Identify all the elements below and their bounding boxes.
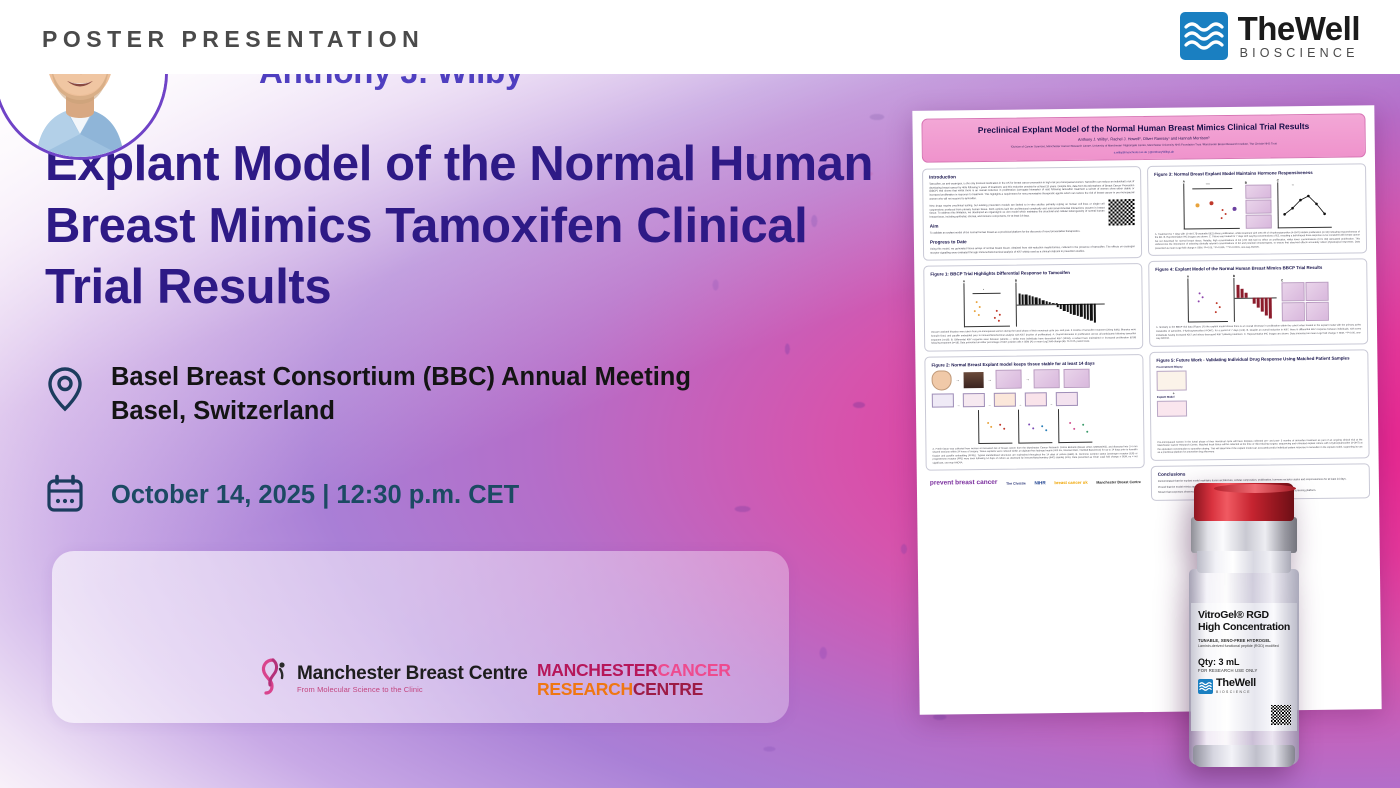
figure-5-caption: Pre-menopausal women in the luteal phase…	[1157, 438, 1362, 455]
figure-3-panel-a: A ****	[1183, 179, 1240, 230]
vial-neck	[1197, 551, 1291, 573]
event-meta: Basel Breast Consortium (BBC) Annual Mee…	[45, 361, 691, 519]
figure-2-label: Figure 2: Normal Breast Explant model ke…	[931, 360, 1136, 368]
vial-descriptor: TUNABLE, XENO-FREE HYDROGEL	[1198, 638, 1290, 643]
scientific-poster[interactable]: Preclinical Explant Model of the Normal …	[912, 105, 1381, 715]
vial-product-grade: High Concentration	[1198, 622, 1290, 634]
poster-figure-5: Figure 5: Future Work - Validating Indiv…	[1149, 349, 1369, 461]
footer-logo-prevent-breast-cancer: prevent breast cancer	[930, 480, 998, 487]
event-location: Basel Breast Consortium (BBC) Annual Mee…	[111, 361, 691, 428]
poster-figure-2: Figure 2: Normal Breast Explant model ke…	[924, 354, 1144, 471]
vial-quantity: Qty: 3 mL	[1198, 657, 1290, 667]
figure-4-plots: A B	[1155, 273, 1361, 324]
figure-5-workflow: Pre-treatment Biopsy + Explant Model	[1156, 363, 1362, 437]
mcrc-word-manchester: MANCHESTER	[537, 660, 657, 680]
poster-section-intro: Introduction Tamoxifen, an anti-oestroge…	[922, 166, 1142, 261]
poster-column-left: Introduction Tamoxifen, an anti-oestroge…	[922, 166, 1145, 504]
intro-heading: Introduction	[929, 172, 1134, 180]
vial-base	[1193, 745, 1295, 767]
conclusions-heading: Conclusions	[1158, 469, 1363, 477]
figure-1-panel-a: A	[963, 279, 1010, 328]
qr-code-icon	[1108, 199, 1134, 225]
footer-logo-mbc: Manchester Breast Centre	[1096, 480, 1141, 485]
progress-text: Using this model, we generated tissue ar…	[930, 245, 1135, 255]
mbc-wordmark: Manchester Breast Centre From Molecular …	[297, 664, 528, 694]
figure-3-caption: A. Treatment for 7 days with 10 nM 17β-o…	[1155, 230, 1360, 250]
figure-1-caption: Vacuum assisted biopsies were taken from…	[931, 329, 1136, 346]
mcrc-word-cancer: CANCER	[657, 660, 730, 680]
figure-2-culture-row: → → → →	[932, 391, 1137, 408]
mcrc-word-research: RESEARCH	[537, 679, 633, 699]
figure-2-caption: A. Fresh tissue was collected from women…	[932, 445, 1137, 465]
map-pin-icon	[45, 361, 89, 418]
vial-sub-descriptor: Laminin-derived functional peptide (RGD)…	[1198, 644, 1290, 648]
brand-subtitle: BIOSCIENCE	[1240, 47, 1360, 60]
page-title: Explant Model of the Normal Human Breast…	[45, 134, 905, 319]
figure-3-label: Figure 3: Normal Breast Explant Model Ma…	[1154, 169, 1359, 177]
vial-label: VitroGel® RGD High Concentration TUNABLE…	[1191, 603, 1297, 731]
figure-4-panel-c: C	[1281, 278, 1330, 322]
manchester-cancer-research-centre-logo: MANCHESTERCANCER RESEARCHCENTRE	[537, 661, 731, 699]
poster-header: Preclinical Explant Model of the Normal …	[921, 113, 1366, 162]
figure-3-panel-c: C **	[1277, 177, 1332, 228]
aim-heading: Aim	[930, 221, 1135, 229]
mcrc-line-2: RESEARCHCENTRE	[537, 680, 731, 699]
mbc-tagline: From Molecular Science to the Clinic	[297, 686, 528, 694]
wave-logo-icon	[1180, 12, 1228, 60]
mbc-name: Manchester Breast Centre	[297, 664, 528, 684]
footer-logo-christie: The Christie	[1006, 481, 1026, 485]
brand-wordmark: TheWell BIOSCIENCE	[1238, 12, 1360, 60]
event-location-line1: Basel Breast Consortium (BBC) Annual Mee…	[111, 361, 691, 395]
figure-3-plots: A ****	[1154, 177, 1360, 230]
footer-logo-nihr: NIHR	[1034, 480, 1045, 485]
intro-text: Tamoxifen, an anti-oestrogen, is the onl…	[929, 180, 1134, 202]
footer-logo-breast-cancer-uk: breast cancer uk	[1054, 480, 1087, 485]
figure-4-panel-a: A	[1187, 274, 1228, 322]
poster-figure-4: Figure 4: Explant Model of the Normal Hu…	[1148, 259, 1368, 347]
event-location-row: Basel Breast Consortium (BBC) Annual Mee…	[45, 361, 691, 428]
event-date-row: October 14, 2025 | 12:30 p.m. CET	[45, 470, 691, 519]
event-location-line2: Basel, Switzerland	[111, 395, 691, 429]
vial-cap-highlight	[1214, 484, 1296, 493]
vial-cap	[1194, 483, 1294, 521]
top-bar: POSTER PRESENTATION TheWell BIOSCIENCE	[0, 0, 1400, 74]
figure-1-panel-b: B	[1015, 278, 1104, 327]
vial-brand-name: TheWell	[1216, 678, 1256, 689]
figure-3-panel-b: B	[1245, 180, 1272, 228]
vial-research-use-only: FOR RESEARCH USE ONLY	[1198, 668, 1290, 673]
page-eyebrow: POSTER PRESENTATION	[42, 26, 424, 53]
poster-figure-1: Figure 1: BBCP Trial Highlights Differen…	[923, 264, 1143, 352]
aim-text: To validate an explant model of the norm…	[930, 229, 1135, 235]
progress-heading: Progress to Date	[930, 237, 1135, 245]
brand-name: TheWell	[1238, 12, 1360, 45]
figure-4-panel-b: B	[1233, 274, 1276, 323]
vial-qr-code-icon	[1271, 705, 1291, 725]
event-date: October 14, 2025 | 12:30 p.m. CET	[111, 470, 519, 513]
figure-4-label: Figure 4: Explant Model of the Normal Hu…	[1155, 265, 1360, 273]
poster-columns: Introduction Tamoxifen, an anti-oestroge…	[922, 163, 1370, 504]
vial-product-name: VitroGel® RGD	[1198, 610, 1290, 622]
vial-crimp-seal	[1191, 517, 1297, 553]
figure-4-caption: A. Similarly to the BBCP trial data (Fig…	[1156, 324, 1361, 341]
calendar-icon	[45, 470, 89, 519]
figure-2-plots	[932, 408, 1137, 445]
poster-figure-3: Figure 3: Normal Breast Explant Model Ma…	[1147, 163, 1367, 256]
product-vial[interactable]: VitroGel® RGD High Concentration TUNABLE…	[1183, 483, 1305, 773]
poster-column-right: Figure 3: Normal Breast Explant Model Ma…	[1147, 163, 1370, 501]
intro-text-2: New drugs require preclinical testing, b…	[929, 202, 1134, 220]
manchester-breast-centre-logo: Manchester Breast Centre From Molecular …	[258, 657, 528, 700]
figure-1-plots: A	[930, 278, 1136, 329]
vial-brand-sub: BIOSCIENCE	[1216, 690, 1256, 694]
figure-1-label: Figure 1: BBCP Trial Highlights Differen…	[930, 270, 1135, 278]
mcrc-line-1: MANCHESTERCANCER	[537, 661, 731, 680]
pink-ribbon-icon	[258, 657, 288, 700]
thewell-brand-logo: TheWell BIOSCIENCE	[1180, 12, 1360, 60]
figure-2-workflow: → → →	[931, 368, 1136, 391]
figure-5-label: Figure 5: Future Work - Validating Indiv…	[1156, 355, 1361, 363]
vial-wave-logo-icon	[1198, 679, 1213, 694]
mcrc-word-centre: CENTRE	[633, 679, 703, 699]
poster-footer-logos: prevent breast cancer The Christie NIHR …	[926, 473, 1145, 487]
vial-brand-logo: TheWell BIOSCIENCE	[1198, 678, 1290, 694]
